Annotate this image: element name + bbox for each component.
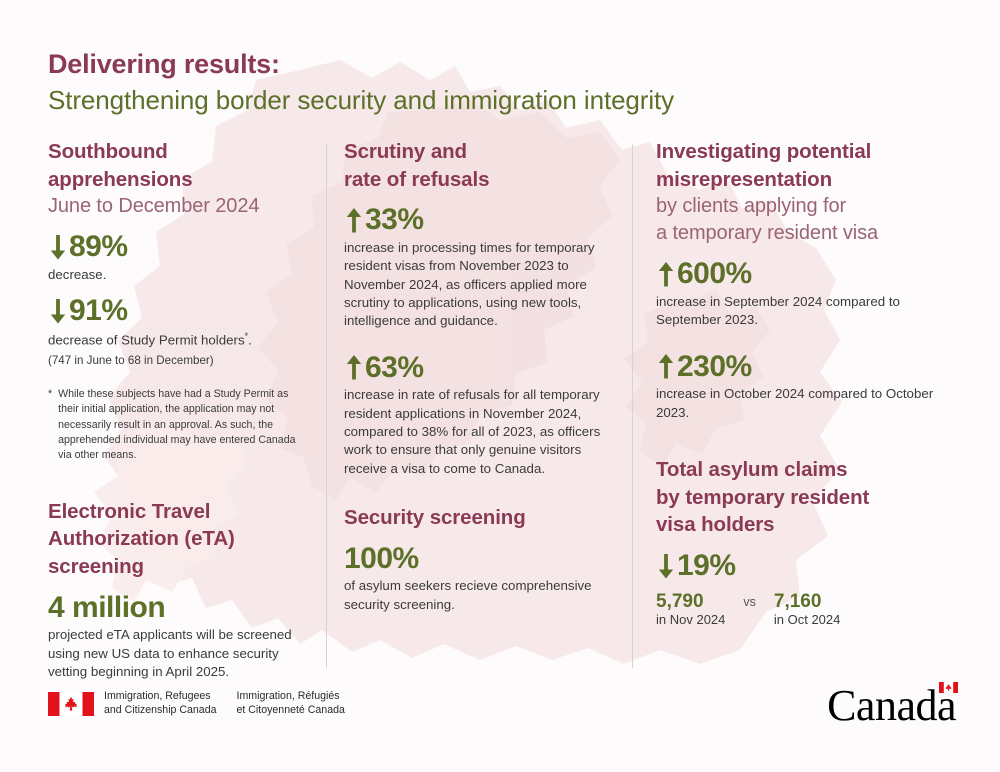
canada-wordmark-text: Canada (827, 681, 956, 730)
section-heading-line-3: visa holders (656, 511, 956, 539)
stat-caption: increase in rate of refusals for all tem… (344, 386, 614, 478)
stat-scrutiny-33: 33% (344, 203, 614, 237)
stat-asylum-19: 19% (656, 549, 956, 583)
columns-container: Southbound apprehensions June to Decembe… (0, 138, 1000, 668)
arrow-up-icon (656, 351, 676, 381)
canada-flag-icon (48, 692, 94, 716)
stat-value: 63% (365, 351, 424, 385)
section-heading-line-1: Security screening (344, 504, 614, 532)
asylum-comparison: 5,790 in Nov 2024 vs 7,160 in Oct 2024 (656, 591, 956, 630)
section-subheading-line-1: by clients applying for (656, 193, 956, 220)
stat-security-100: 100% (344, 542, 614, 576)
stat-caption: increase in September 2024 compared to S… (656, 293, 956, 330)
comparison-right-value: 7,160 (774, 591, 841, 613)
column-southbound: Southbound apprehensions June to Decembe… (48, 138, 310, 681)
stat-caption-period: . (248, 332, 252, 347)
title-line-2: Strengthening border security and immigr… (48, 84, 948, 117)
section-eta-screening: Electronic Travel Authorization (eTA) sc… (48, 498, 310, 682)
page-title: Delivering results: Strengthening border… (48, 48, 948, 117)
stat-value: 91% (69, 294, 128, 328)
comparison-left-value: 5,790 (656, 591, 725, 613)
arrow-up-icon (344, 205, 364, 235)
stat-caption: increase in processing times for tempora… (344, 239, 614, 331)
stat-southbound-89: 89% (48, 230, 310, 264)
ircc-french-line-1: Immigration, Réfugiés (237, 690, 345, 704)
section-subheading-line-2: a temporary resident visa (656, 220, 956, 247)
arrow-up-icon (344, 352, 364, 382)
ircc-english: Immigration, Refugees and Citizenship Ca… (104, 690, 217, 718)
comparison-right-label: in Oct 2024 (774, 612, 841, 629)
stat-value: 33% (365, 203, 424, 237)
stat-value: 600% (677, 257, 752, 291)
stat-southbound-91: 91% (48, 294, 310, 328)
ircc-french: Immigration, Réfugiés et Citoyenneté Can… (237, 690, 345, 718)
arrow-down-icon (48, 296, 68, 326)
section-heading-line-1: Total asylum claims (656, 456, 956, 484)
stat-misrep-230: 230% (656, 350, 956, 384)
stat-scrutiny-63: 63% (344, 351, 614, 385)
column-scrutiny: Scrutiny and rate of refusals 33% increa… (344, 138, 614, 614)
section-heading-line-3: screening (48, 553, 310, 581)
stat-eta-4-million: 4 million (48, 591, 310, 625)
stat-caption: decrease. (48, 266, 310, 284)
infographic-page: Delivering results: Strengthening border… (0, 0, 1000, 772)
arrow-down-icon (48, 232, 68, 262)
section-heading-line-2: Authorization (eTA) (48, 525, 310, 553)
stat-caption-text: decrease of Study Permit holders (48, 332, 245, 347)
arrow-down-icon (656, 551, 676, 581)
footnote-text: While these subjects have had a Study Pe… (58, 387, 310, 464)
section-southbound-apprehensions: Southbound apprehensions June to Decembe… (48, 138, 310, 464)
footnote: * While these subjects have had a Study … (48, 387, 310, 464)
footer: Immigration, Refugees and Citizenship Ca… (0, 676, 1000, 746)
comparison-left: 5,790 in Nov 2024 (656, 591, 725, 630)
stat-value: 89% (69, 230, 128, 264)
stat-caption: projected eTA applicants will be screene… (48, 626, 310, 681)
column-misrepresentation: Investigating potential misrepresentatio… (656, 138, 956, 629)
section-scrutiny-refusals: Scrutiny and rate of refusals 33% increa… (344, 138, 614, 478)
canada-flag-icon (939, 682, 958, 693)
section-investigating-misrepresentation: Investigating potential misrepresentatio… (656, 138, 956, 422)
ircc-french-line-2: et Citoyenneté Canada (237, 704, 345, 718)
title-line-1: Delivering results: (48, 48, 948, 82)
canada-wordmark: Canada (827, 684, 956, 728)
stat-value: 230% (677, 350, 752, 384)
section-heading-line-2: rate of refusals (344, 166, 614, 194)
comparison-left-label: in Nov 2024 (656, 612, 725, 629)
ircc-english-line-1: Immigration, Refugees (104, 690, 217, 704)
footnote-marker: * (48, 387, 52, 464)
section-heading-line-1: Southbound (48, 138, 310, 166)
ircc-english-line-2: and Citizenship Canada (104, 704, 217, 718)
section-heading-line-2: by temporary resident (656, 484, 956, 512)
section-heading-line-1: Investigating potential (656, 138, 956, 166)
stat-value: 19% (677, 549, 736, 583)
section-subheading: June to December 2024 (48, 193, 310, 220)
column-divider-right (632, 144, 633, 668)
comparison-right: 7,160 in Oct 2024 (774, 591, 841, 630)
section-heading-line-1: Electronic Travel (48, 498, 310, 526)
section-heading-line-2: apprehensions (48, 166, 310, 194)
comparison-separator: vs (743, 595, 756, 609)
stat-caption: decrease of Study Permit holders*. (48, 330, 310, 350)
stat-caption: of asylum seekers recieve comprehensive … (344, 577, 614, 614)
column-divider-left (326, 144, 327, 668)
ircc-wordmark-text: Immigration, Refugees and Citizenship Ca… (104, 690, 345, 718)
stat-note: (747 in June to 68 in December) (48, 353, 310, 369)
stat-value: 4 million (48, 591, 165, 625)
section-total-asylum-claims: Total asylum claims by temporary residen… (656, 456, 956, 629)
stat-caption: increase in October 2024 compared to Oct… (656, 385, 956, 422)
stat-value: 100% (344, 542, 419, 576)
stat-misrep-600: 600% (656, 257, 956, 291)
section-heading-line-2: misrepresentation (656, 166, 956, 194)
arrow-up-icon (656, 259, 676, 289)
ircc-logo: Immigration, Refugees and Citizenship Ca… (48, 690, 345, 718)
section-security-screening: Security screening 100% of asylum seeker… (344, 504, 614, 614)
section-heading-line-1: Scrutiny and (344, 138, 614, 166)
